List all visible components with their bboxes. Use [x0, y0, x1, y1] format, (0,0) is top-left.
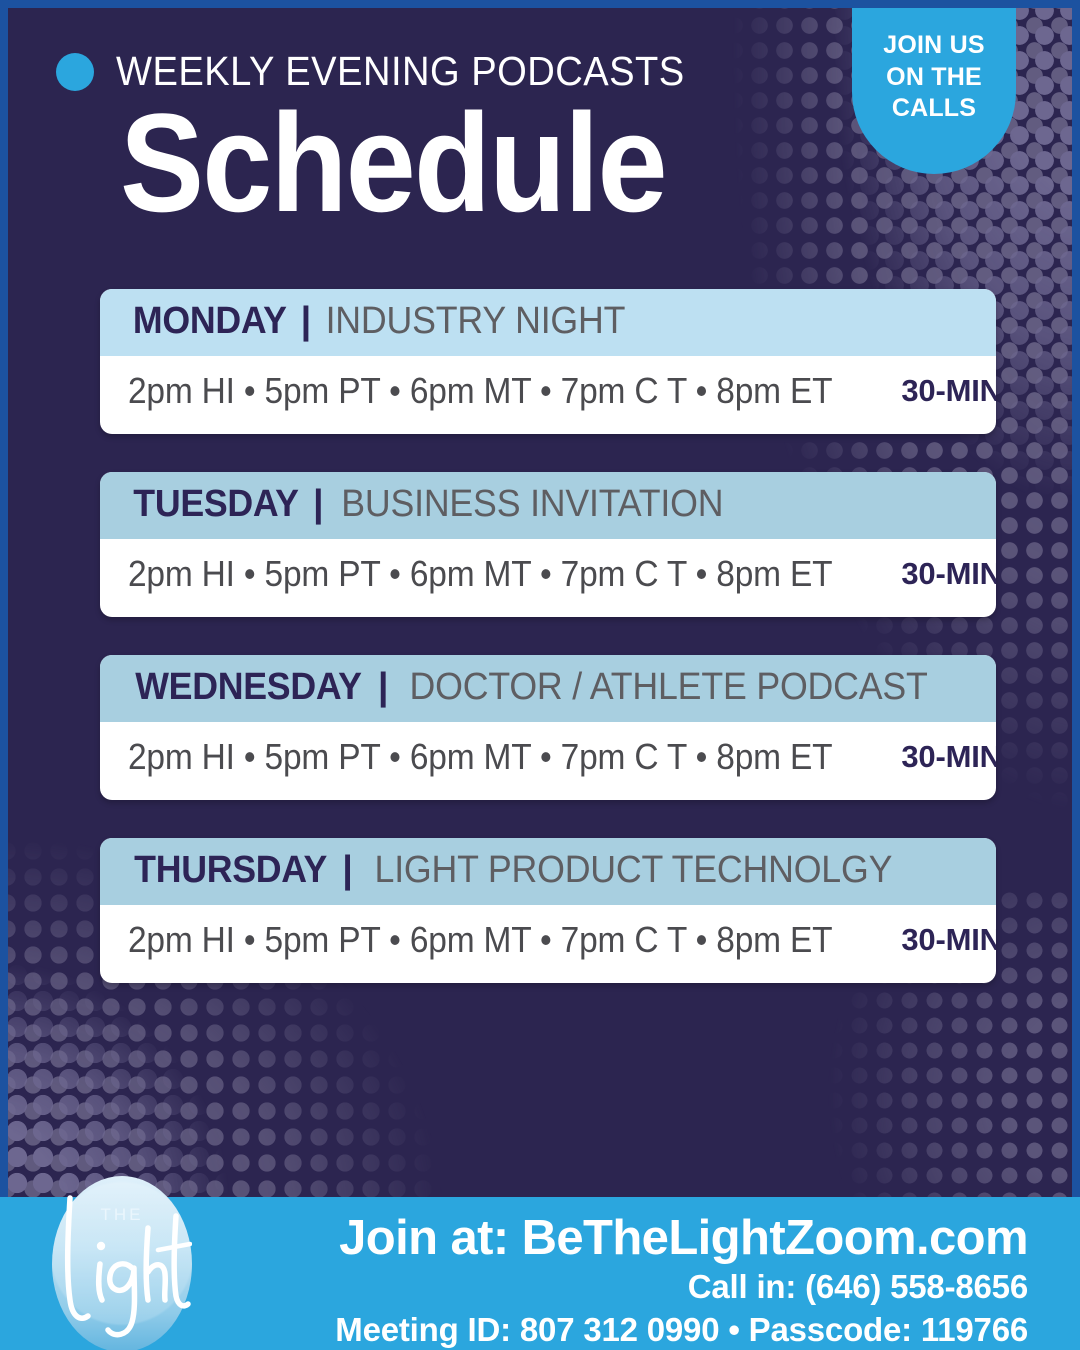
card-times-label: 2pm HI • 5pm PT • 6pm MT • 7pm C T • 8pm…: [128, 919, 832, 961]
logo-script-art: THE: [52, 1176, 192, 1350]
schedule-card-tuesday[interactable]: TUESDAY | BUSINESS INVITATION 2pm HI • 5…: [100, 472, 996, 617]
card-header: MONDAY | INDUSTRY NIGHT: [100, 289, 996, 356]
schedule-card-wednesday[interactable]: WEDNESDAY | DOCTOR / ATHLETE PODCAST 2pm…: [100, 655, 996, 800]
join-url-line[interactable]: Join at: BeTheLightZoom.com: [335, 1211, 1028, 1266]
card-times-label: 2pm HI • 5pm PT • 6pm MT • 7pm C T • 8pm…: [128, 736, 832, 778]
card-separator: |: [292, 300, 317, 343]
footer-bar: THE Join at: BeTheLightZoom.com Call in:…: [0, 1197, 1080, 1350]
card-topic-label: LIGHT PRODUCT TECHNOLGY: [374, 849, 892, 892]
card-day-label: WEDNESDAY: [135, 666, 361, 709]
footer-contact-block: Join at: BeTheLightZoom.com Call in: (64…: [335, 1211, 1028, 1350]
card-header: WEDNESDAY | DOCTOR / ATHLETE PODCAST: [100, 655, 996, 722]
card-times-label: 2pm HI • 5pm PT • 6pm MT • 7pm C T • 8pm…: [128, 370, 832, 412]
card-duration-badge: 30-MIN: [901, 373, 996, 409]
card-body: 2pm HI • 5pm PT • 6pm MT • 7pm C T • 8pm…: [100, 356, 996, 434]
card-times-label: 2pm HI • 5pm PT • 6pm MT • 7pm C T • 8pm…: [128, 553, 832, 595]
badge-line-3: CALLS: [892, 94, 976, 123]
schedule-card-thursday[interactable]: THURSDAY | LIGHT PRODUCT TECHNOLGY 2pm H…: [100, 838, 996, 983]
card-day-label: TUESDAY: [133, 483, 298, 526]
meeting-id-line: Meeting ID: 807 312 0990 • Passcode: 119…: [335, 1309, 1028, 1350]
card-header: THURSDAY | LIGHT PRODUCT TECHNOLGY: [100, 838, 996, 905]
card-separator: |: [369, 666, 394, 709]
page-title: Schedule: [120, 93, 666, 233]
poster-canvas: WEEKLY EVENING PODCASTS Schedule JOIN US…: [0, 0, 1080, 1350]
schedule-list: MONDAY | INDUSTRY NIGHT 2pm HI • 5pm PT …: [100, 289, 996, 983]
blue-dot-icon: [56, 53, 94, 91]
badge-line-1: JOIN US: [883, 31, 984, 60]
call-in-line[interactable]: Call in: (646) 558-8656: [335, 1266, 1028, 1309]
card-body: 2pm HI • 5pm PT • 6pm MT • 7pm C T • 8pm…: [100, 905, 996, 983]
card-topic-label: INDUSTRY NIGHT: [326, 300, 626, 343]
badge-line-2: ON THE: [886, 63, 982, 92]
poster-background: WEEKLY EVENING PODCASTS Schedule JOIN US…: [8, 8, 1072, 1350]
join-us-badge[interactable]: JOIN US ON THE CALLS: [852, 8, 1016, 174]
logo-the-word: THE: [101, 1205, 144, 1224]
card-separator: |: [304, 483, 329, 526]
card-duration-badge: 30-MIN: [901, 556, 996, 592]
card-day-label: THURSDAY: [134, 849, 327, 892]
the-light-logo[interactable]: THE: [52, 1176, 192, 1350]
card-body: 2pm HI • 5pm PT • 6pm MT • 7pm C T • 8pm…: [100, 539, 996, 617]
schedule-card-monday[interactable]: MONDAY | INDUSTRY NIGHT 2pm HI • 5pm PT …: [100, 289, 996, 434]
card-day-label: MONDAY: [133, 300, 287, 343]
card-topic-label: BUSINESS INVITATION: [341, 483, 723, 526]
card-topic-label: DOCTOR / ATHLETE PODCAST: [410, 666, 928, 709]
card-header: TUESDAY | BUSINESS INVITATION: [100, 472, 996, 539]
card-body: 2pm HI • 5pm PT • 6pm MT • 7pm C T • 8pm…: [100, 722, 996, 800]
card-duration-badge: 30-MIN: [901, 922, 996, 958]
card-separator: |: [333, 849, 358, 892]
card-duration-badge: 30-MIN: [901, 739, 996, 775]
